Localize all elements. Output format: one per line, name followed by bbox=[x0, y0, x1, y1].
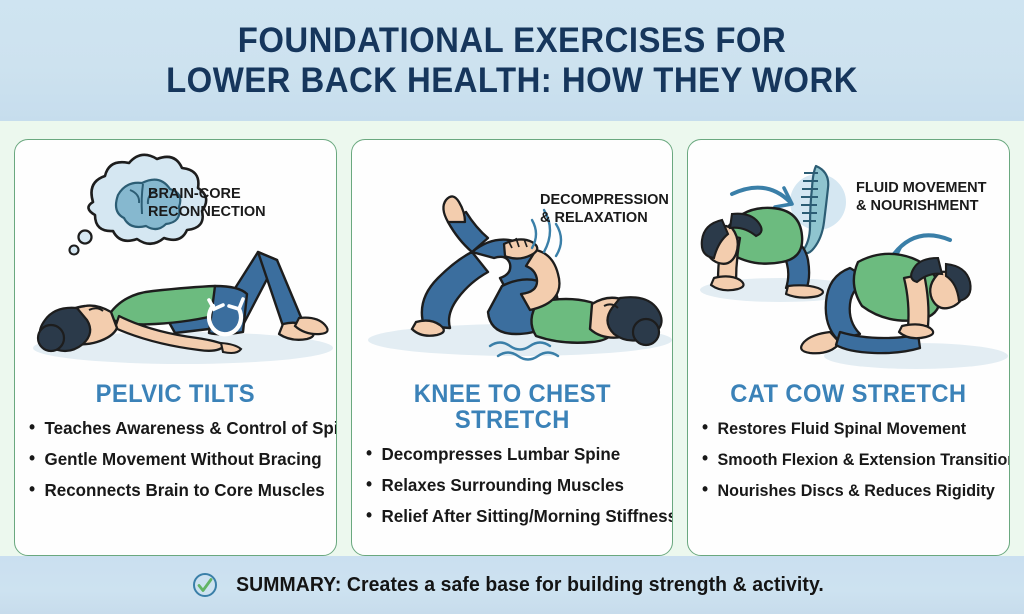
summary-bar: SUMMARY: Creates a safe base for buildin… bbox=[0, 556, 1024, 614]
list-item: Decompresses Lumbar Spine bbox=[366, 445, 658, 464]
cow-pose-figure bbox=[801, 254, 970, 353]
panel-title-knee-to-chest: KNEE TO CHEST STRETCH bbox=[360, 381, 665, 433]
list-item: Relaxes Surrounding Muscles bbox=[366, 476, 658, 495]
illustration-knee-to-chest: DECOMPRESSION & RELAXATION bbox=[352, 140, 673, 375]
callout-line1-p3: FLUID MOVEMENT bbox=[856, 180, 987, 196]
callout-line2-p1: RECONNECTION bbox=[148, 204, 266, 220]
callout-line1-p1: BRAIN-CORE bbox=[148, 186, 241, 202]
panel-knee-to-chest-stretch[interactable]: DECOMPRESSION & RELAXATION KNEE TO CHEST… bbox=[351, 139, 674, 556]
list-item: Gentle Movement Without Bracing bbox=[29, 450, 321, 469]
summary-label: SUMMARY: bbox=[236, 574, 341, 596]
panel-title-cat-cow: CAT COW STRETCH bbox=[696, 381, 1001, 407]
list-item: Restores Fluid Spinal Movement bbox=[702, 419, 994, 438]
benefits-list-pelvic-tilts: Teaches Awareness & Control of Spine Gen… bbox=[15, 419, 336, 512]
benefits-list-knee-to-chest: Decompresses Lumbar Spine Relaxes Surrou… bbox=[352, 445, 673, 538]
summary-sentence: Creates a safe base for building strengt… bbox=[346, 574, 823, 596]
callout-line1-p2: DECOMPRESSION bbox=[540, 192, 669, 208]
list-item: Reconnects Brain to Core Muscles bbox=[29, 481, 321, 500]
callout-line2-p3: & NOURISHMENT bbox=[856, 198, 979, 214]
summary-text: SUMMARY: Creates a safe base for buildin… bbox=[236, 574, 824, 597]
panels-container: BRAIN-CORE RECONNECTION PELVIC TILTS Tea… bbox=[0, 121, 1024, 556]
callout-line2-p2: & RELAXATION bbox=[540, 210, 648, 226]
list-item: Nourishes Discs & Reduces Rigidity bbox=[702, 481, 994, 500]
list-item: Relief After Sitting/Morning Stiffness bbox=[366, 507, 658, 526]
illustration-cat-cow: FLUID MOVEMENT & NOURISHMENT bbox=[688, 140, 1009, 375]
page-title-line1: FOUNDATIONAL EXERCISES FOR bbox=[238, 21, 786, 60]
panel-cat-cow-stretch[interactable]: FLUID MOVEMENT & NOURISHMENT CAT COW STR… bbox=[687, 139, 1010, 556]
panel-pelvic-tilts[interactable]: BRAIN-CORE RECONNECTION PELVIC TILTS Tea… bbox=[14, 139, 337, 556]
illustration-pelvic-tilts: BRAIN-CORE RECONNECTION bbox=[15, 140, 336, 375]
page-title-line2: LOWER BACK HEALTH: HOW THEY WORK bbox=[166, 61, 858, 101]
list-item: Teaches Awareness & Control of Spine bbox=[29, 419, 321, 438]
supine-knees-bent-figure bbox=[38, 252, 328, 353]
curved-arrow-right-icon bbox=[732, 188, 792, 207]
panel-title-pelvic-tilts: PELVIC TILTS bbox=[23, 381, 328, 407]
list-item: Smooth Flexion & Extension Transitions bbox=[702, 450, 994, 469]
header-banner: FOUNDATIONAL EXERCISES FOR LOWER BACK HE… bbox=[0, 0, 1024, 121]
infographic-page: FOUNDATIONAL EXERCISES FOR LOWER BACK HE… bbox=[0, 0, 1024, 614]
benefits-list-cat-cow: Restores Fluid Spinal Movement Smooth Fl… bbox=[688, 419, 1009, 512]
page-title: FOUNDATIONAL EXERCISES FOR LOWER BACK HE… bbox=[166, 21, 858, 101]
check-circle-icon bbox=[192, 572, 218, 598]
